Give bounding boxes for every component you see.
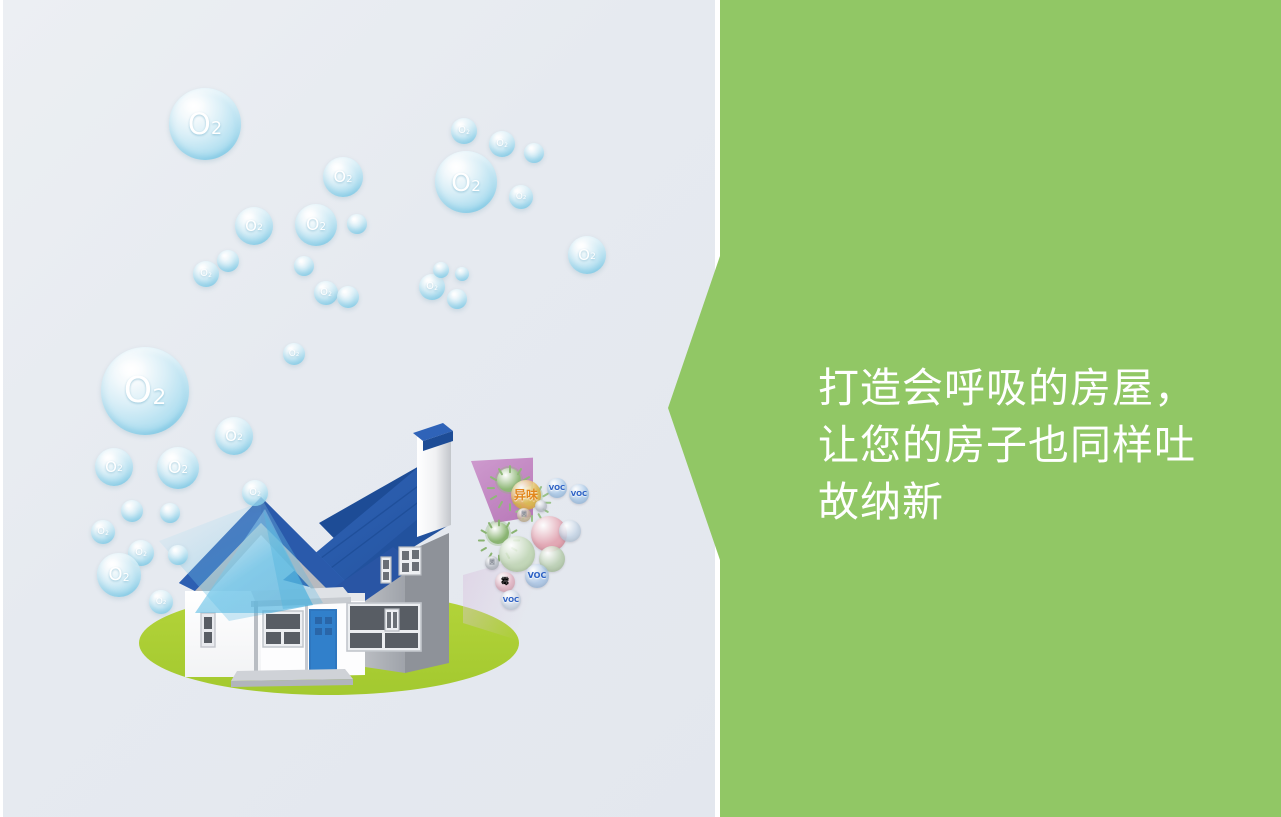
oxygen-symbol: O <box>306 217 319 234</box>
oxygen-symbol: O <box>156 598 163 607</box>
oxygen-subscript: 2 <box>211 121 222 138</box>
oxygen-bubble: O2 <box>435 151 497 213</box>
oxygen-subscript: 2 <box>523 196 526 201</box>
oxygen-bubble: O2 <box>149 590 173 614</box>
oxygen-bubble: O2 <box>323 157 363 197</box>
oxygen-subscript: 2 <box>504 143 508 149</box>
oxygen-bubble: O2 <box>101 347 189 435</box>
oxygen-bubble: O2 <box>242 480 268 506</box>
oxygen-subscript: 2 <box>328 292 332 298</box>
pollutant-bubble: VOC <box>525 564 549 588</box>
oxygen-symbol: O <box>188 110 211 139</box>
oxygen-bubble: O2 <box>295 204 337 246</box>
oxygen-bubble <box>160 503 180 523</box>
oxygen-subscript: 2 <box>182 466 188 476</box>
pollutant-bubble: 霉 <box>495 572 515 592</box>
headline-line-3: 故纳新 <box>818 478 944 526</box>
oxygen-bubble: O2 <box>91 520 115 544</box>
oxygen-bubble <box>121 500 143 522</box>
oxygen-symbol: O <box>245 219 257 234</box>
oxygen-bubble <box>455 267 469 281</box>
oxygen-subscript: 2 <box>105 531 109 537</box>
headline-line-1: 打造会呼吸的房屋， <box>818 364 1196 412</box>
oxygen-symbol: O <box>289 350 296 359</box>
oxygen-subscript: 2 <box>163 601 166 606</box>
oxygen-symbol: O <box>108 566 122 584</box>
oxygen-bubble <box>168 545 188 565</box>
illustration-panel: 异味VOCVOCVOC霉VOC菌菌 O2O2O2O2O2O2O2O2O2O2O2… <box>3 0 715 817</box>
oxygen-subscript: 2 <box>123 573 130 584</box>
oxygen-bubble: O2 <box>489 131 515 157</box>
oxygen-subscript: 2 <box>257 224 263 233</box>
pollutant-bubble: 菌 <box>485 556 499 570</box>
oxygen-symbol: O <box>97 527 105 537</box>
oxygen-bubble <box>433 262 449 278</box>
oxygen-symbol: O <box>249 488 257 498</box>
oxygen-bubble <box>347 214 367 234</box>
oxygen-symbol: O <box>334 169 347 185</box>
oxygen-subscript: 2 <box>434 286 438 292</box>
oxygen-bubble: O2 <box>193 261 219 287</box>
oxygen-symbol: O <box>451 170 471 195</box>
oxygen-subscript: 2 <box>153 387 167 409</box>
oxygen-symbol: O <box>200 269 208 279</box>
oxygen-subscript: 2 <box>208 273 212 279</box>
oxygen-symbol: O <box>496 139 504 149</box>
headline-line-2: 让您的房子也同样吐 <box>818 421 1196 469</box>
oxygen-bubble: O2 <box>157 447 199 489</box>
slide-canvas: 异味VOCVOCVOC霉VOC菌菌 O2O2O2O2O2O2O2O2O2O2O2… <box>0 0 1281 817</box>
oxygen-subscript: 2 <box>237 434 243 443</box>
oxygen-bubble: O2 <box>314 281 338 305</box>
pollutant-bubble <box>535 500 547 512</box>
page-title: 打造会呼吸的房屋，让您的房子也同样吐故纳新 <box>818 360 1208 531</box>
oxygen-subscript: 2 <box>296 353 299 358</box>
oxygen-bubble: O2 <box>169 88 241 160</box>
oxygen-subscript: 2 <box>466 130 470 136</box>
pollutant-bubble: VOC <box>569 484 589 504</box>
oxygen-symbol: O <box>105 460 117 475</box>
pollutant-bubble: 菌 <box>517 508 531 522</box>
oxygen-subscript: 2 <box>471 179 481 194</box>
oxygen-bubble: O2 <box>215 417 253 455</box>
pollutant-cluster: 异味VOCVOCVOC霉VOC菌菌 <box>473 450 633 630</box>
oxygen-subscript: 2 <box>590 253 596 262</box>
oxygen-bubble: O2 <box>509 185 533 209</box>
oxygen-symbol: O <box>320 288 328 298</box>
oxygen-bubble: O2 <box>283 343 305 365</box>
oxygen-subscript: 2 <box>117 465 123 474</box>
pollutant-bubble: VOC <box>501 590 521 610</box>
oxygen-bubble: O2 <box>451 118 477 144</box>
oxygen-bubble: O2 <box>97 553 141 597</box>
oxygen-symbol: O <box>168 460 181 477</box>
oxygen-symbol: O <box>135 548 143 558</box>
oxygen-symbol: O <box>516 193 523 202</box>
oxygen-subscript: 2 <box>143 552 147 558</box>
oxygen-bubble <box>524 143 544 163</box>
oxygen-subscript: 2 <box>320 223 326 233</box>
oxygen-symbol: O <box>458 126 466 136</box>
oxygen-bubble <box>294 256 314 276</box>
oxygen-bubble <box>217 250 239 272</box>
oxygen-bubble: O2 <box>568 236 606 274</box>
oxygen-bubble: O2 <box>95 448 133 486</box>
oxygen-subscript: 2 <box>257 492 261 498</box>
oxygen-bubble: O2 <box>235 207 273 245</box>
oxygen-bubble <box>447 289 467 309</box>
pollutant-bubble: VOC <box>547 478 567 498</box>
oxygen-subscript: 2 <box>346 175 352 185</box>
oxygen-symbol: O <box>225 429 237 444</box>
oxygen-symbol: O <box>578 248 590 263</box>
oxygen-symbol: O <box>426 282 434 292</box>
oxygen-bubble <box>337 286 359 308</box>
oxygen-symbol: O <box>124 373 152 409</box>
pollutant-bubble <box>559 520 581 542</box>
